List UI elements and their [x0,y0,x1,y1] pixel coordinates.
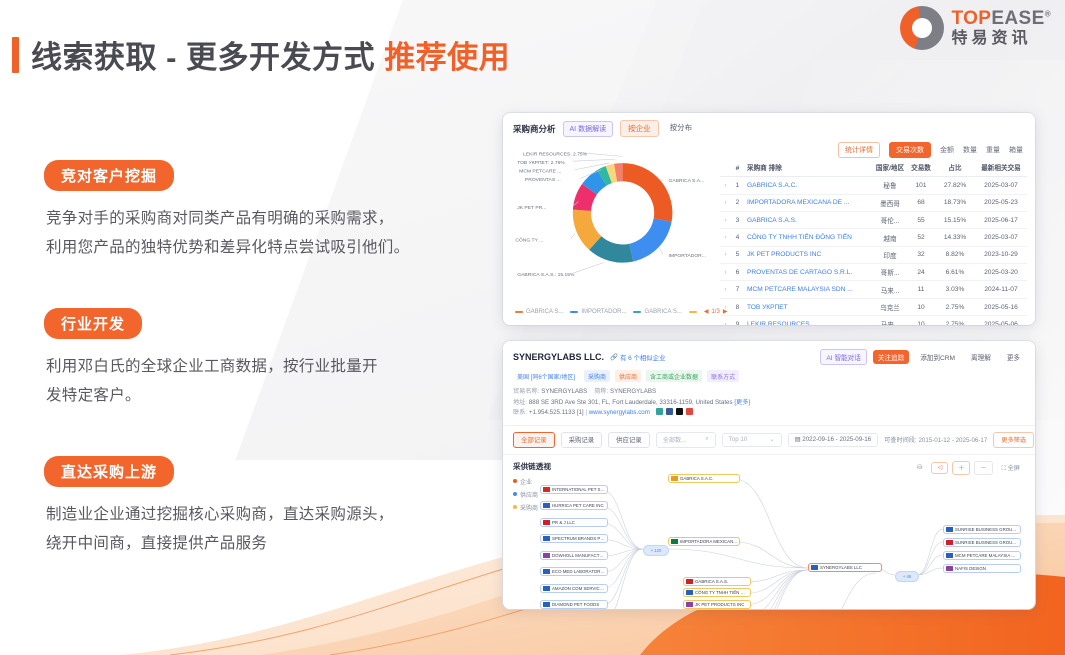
facebook-icon[interactable] [666,408,673,415]
row-last-deal: 2025-06-17 [975,211,1027,228]
feature-text-line2: 发特定客户。 [46,387,141,404]
graph-node-label: GABRICA S.A.C. [680,476,713,481]
graph-node[interactable]: NAFIS DESIGN [943,564,1021,573]
row-index: 4 [731,229,744,246]
row-expand-icon[interactable]: › [720,246,731,263]
legend-item: GABRICA S... [515,309,563,315]
metric-tab-stats[interactable]: 统计详情 [838,142,880,158]
table-row[interactable]: ›6PROVENTAS DE CARTAGO S.R.L.哥斯...246.61… [720,264,1027,281]
donut-label: MCM PETCARE ... [519,169,561,175]
company-header: SYNERGYLABS LLC. 🔗 有 6 个相似企业 AI 智能对话 关注追… [503,341,1035,426]
company-detail-panel: SYNERGYLABS LLC. 🔗 有 6 个相似企业 AI 智能对话 关注追… [503,341,1035,609]
supply-chain-graph: 采供链透视 企业 供应商 采购商 ⛁ ◁ ＋ － ⛶ 全屏 INTERNATIO… [503,455,1035,609]
col-country[interactable]: 国家/地区 [873,162,907,177]
graph-node-label: MCM PETCARE MALAYSIA ... [955,553,1015,558]
table-row[interactable]: ›2IMPORTADORA MEXICANA DE ...墨西哥6818.73%… [720,194,1027,211]
row-country: 越南 [873,229,907,246]
company-alias-row: 贸易名称: SYNERGYLABS 简称: SYNERGYLABS [513,387,1025,398]
legend-item: IMPORTADOR... [570,309,626,315]
row-expand-icon[interactable]: › [720,316,731,325]
row-last-deal: 2025-05-06 [975,316,1027,325]
row-expand-icon[interactable]: › [720,264,731,281]
col-expand [720,162,731,177]
related-companies-label: 有 6 个相似企业 [620,353,665,362]
row-country: 秘鲁 [873,177,907,194]
graph-node-label: AMAZON COM SERVICES L... [552,586,605,591]
tab-by-company[interactable]: 按企业 [620,120,659,137]
view-tab-group: 按企业 按分布 [620,120,699,137]
graph-node[interactable]: DOWHOLL MANUFACTURIN... [540,551,608,560]
graph-node-label: DOWHOLL MANUFACTURIN... [552,553,605,558]
donut-label: GABRICA S.A... [669,178,705,184]
company-info-block: 贸易名称: SYNERGYLABS 简称: SYNERGYLABS 地址: 88… [513,387,1025,419]
row-deal-count: 32 [907,246,935,263]
graph-node-label: SUNRISE BUSINESS GROU... [955,540,1016,545]
table-row[interactable]: ›7MCM PETCARE MALAYSIA SDN ...马来...113.0… [720,281,1027,298]
row-deal-count: 24 [907,264,935,281]
row-deal-count: 10 [907,316,935,325]
logo-chinese-name: 特易资讯 [951,31,1051,47]
donut-label: IMPORTADOR... [669,253,706,259]
logo-registered-icon: ® [1045,10,1051,19]
tag-contact: 联系方式 [707,370,739,382]
filter-tab-supply[interactable]: 供应记录 [608,432,650,448]
graph-node-label: SPECTRUM BRANDS PET L... [552,536,605,541]
donut-svg: LEKIR RESOURCES: 2.75%ТОВ УКРПЕТ: 2.76%M… [511,142,716,300]
related-companies-link[interactable]: 🔗 有 6 个相似企业 [610,353,665,362]
more-button[interactable]: 更多 [1002,350,1025,364]
donut-label: JK PET PR... [517,205,546,211]
graph-node-label: DIAMOND PET FOODS [552,602,599,607]
title-accent-bar [12,37,19,73]
buyer-table-column: 统计详情 交易次数 金额 数量 重量 箱量 # 采购商 排除 国家/地区 交易数… [716,142,1027,325]
chart-legend: GABRICA S... IMPORTADOR... GABRICA S... … [511,305,716,315]
buyer-analysis-panel: 采购商分析 AI 数据解读 按企业 按分布 LEKIR RESOURCES: 2… [503,113,1035,325]
graph-node-label: SUNRISE BUSINESS GROU... [955,527,1016,532]
row-country: 马来... [873,281,907,298]
row-buyer-name[interactable]: JK PET PRODUCTS INC [744,246,873,263]
buyer-donut-chart: LEKIR RESOURCES: 2.75%ТОВ УКРПЕТ: 2.76%M… [511,142,716,325]
ai-interpret-button[interactable]: AI 数据解读 [563,121,614,137]
graph-node-label: INTERNATIONAL PET SUP... [552,487,605,492]
row-share: 6.61% [935,264,975,281]
graph-hub-left[interactable]: + 120 [643,545,669,556]
tag-business-data: 含工商或企业数据 [646,370,702,382]
graph-center-company[interactable]: SYNERGYLABS LLC [808,563,882,572]
row-expand-icon[interactable]: › [720,194,731,211]
wechat-icon[interactable] [656,408,663,415]
company-tag-group: 美国 [同6个国家/地区] 采购商 供应商 含工商或企业数据 联系方式 [513,370,1025,382]
social-icon-group [656,408,693,415]
date-from: 2022-09-16 [802,436,834,443]
row-share: 14.33% [935,229,975,246]
legend-prev-icon[interactable]: ◀ [704,308,709,315]
row-share: 8.82% [935,246,975,263]
legend-item: GABRICA S... [633,309,681,315]
youtube-icon[interactable] [686,408,693,415]
country-flag-icon [686,579,693,584]
company-action-group: AI 智能对话 关注追踪 添加到CRM 离理解 更多 [820,349,1025,365]
row-buyer-name[interactable]: GABRICA S.A.C. [744,177,873,194]
country-flag-icon [543,586,550,591]
row-country: 印度 [873,246,907,263]
col-deal-count[interactable]: 交易数 [907,162,935,177]
feature-block-upstream: 直达采购上游 制造业企业通过挖掘核心采购商，直达采购源头， 绕开中间商，直接提供… [44,456,394,558]
row-buyer-name[interactable]: ТОВ УКРПЕТ [744,298,873,315]
feature-text-line2: 利用您产品的独特优势和差异化特点尝试吸引他们。 [46,239,409,256]
graph-node[interactable]: CÔNG TY TNHH TIẾN ĐÔN... [683,588,751,597]
metric-tab-weight[interactable]: 重量 [986,145,1000,155]
country-flag-icon [543,569,550,574]
address-more-link[interactable]: [更多] [734,399,750,406]
abbr-label: 简称: [594,388,608,395]
legend-pager[interactable]: ◀ 1/3 ▶ [704,308,734,315]
table-row[interactable]: ›1GABRICA S.A.C.秘鲁10127.82%2025-03-07 [720,177,1027,194]
feature-pill-industry: 行业开发 [44,308,142,339]
row-share: 2.75% [935,298,975,315]
company-address-row: 地址: 888 SE 3RD Ave Ste 301, FL, Fort Lau… [513,398,1025,409]
company-name: SYNERGYLABS LLC. [513,352,604,362]
address-value: 888 SE 3RD Ave Ste 301, FL, Fort Lauderd… [529,399,733,406]
graph-hub-right[interactable]: + 46 [895,571,919,582]
country-flag-icon [811,565,818,570]
country-flag-icon [671,539,678,544]
row-index: 1 [731,177,744,194]
row-expand-icon[interactable]: › [720,281,731,298]
abbr-value: SYNERGYLABS [610,388,656,395]
row-index: 9 [731,316,744,325]
legend-item [689,311,697,313]
feature-text-line2: 绕开中间商，直接提供产品服务 [46,535,267,552]
tab-by-distribution[interactable]: 按分布 [663,120,700,137]
metric-tab-cases[interactable]: 箱量 [1009,145,1023,155]
row-deal-count: 101 [907,177,935,194]
row-last-deal: 2025-05-23 [975,194,1027,211]
graph-node[interactable]: IMPORTADORA MEXICAN... [668,537,740,546]
country-flag-icon [543,520,550,525]
page-title: 线索获取 - 更多开发方式 推荐使用 [12,32,510,77]
row-share: 15.15% [935,211,975,228]
row-buyer-name[interactable]: PROVENTAS DE CARTAGO S.R.L. [744,264,873,281]
logo-top-gray: EASE [991,8,1044,29]
graph-node-label: GABRICA S.A.S. [695,579,728,584]
feature-pill-competitor: 竞对客户挖掘 [44,160,174,191]
row-country: 乌克兰 [873,298,907,315]
country-flag-icon [946,527,953,532]
follow-track-button[interactable]: 关注追踪 [873,350,909,364]
feature-block-industry: 行业开发 利用邓白氏的全球企业工商数据，按行业批量开 发特定客户。 [44,308,378,410]
row-deal-count: 55 [907,211,935,228]
metric-tab-group: 统计详情 交易次数 金额 数量 重量 箱量 [720,142,1027,162]
graph-node-label: CÔNG TY TNHH TIẾN ĐÔN... [695,590,748,595]
row-deal-count: 10 [907,298,935,315]
country-flag-icon [946,566,953,571]
table-row[interactable]: ›3GABRICA S.A.S.哥伦...5515.15%2025-06-17 [720,211,1027,228]
record-filter-bar: 全部记录 采购记录 供应记录 全部数...⌕ Top 10⌄ ▤ 2022-09… [503,426,1035,455]
metric-tab-quantity[interactable]: 数量 [963,145,977,155]
tag-country[interactable]: 美国 [同6个国家/地区] [513,370,579,382]
alias-value: SYNERGYLABS [541,388,587,395]
donut-label: ТОВ УКРПЕТ: 2.76% [517,160,565,166]
title-highlight-text: 推荐使用 [384,40,510,75]
metric-tab-deal-count[interactable]: 交易次数 [889,142,931,158]
search-icon: ⌕ [705,435,708,444]
title-main-text: 线索获取 - 更多开发方式 [31,40,375,75]
graph-node-label: HURRICA PET CARE INC [552,503,604,508]
row-share: 2.75% [935,316,975,325]
feature-text-line1: 制造业企业通过挖掘核心采购商，直达采购源头， [46,506,394,523]
row-last-deal: 2023-10-29 [975,246,1027,263]
graph-node[interactable]: JK PET PRODUCTS INC [683,600,751,609]
col-last-deal: 最新相关交易 [975,162,1027,177]
donut-label: PROVENTAS ... [525,177,561,183]
table-row[interactable]: ›8ТОВ УКРПЕТ乌克兰102.75%2025-05-16 [720,298,1027,315]
feature-block-competitor: 竞对客户挖掘 竞争对手的采购商对同类产品有明确的采购需求， 利用您产品的独特优势… [44,160,409,262]
graph-node[interactable]: MCM PETCARE MALAYSIA ... [943,551,1021,560]
table-row[interactable]: ›4CÔNG TY TNHH TIẾN ĐÔNG TIẾN越南5214.33%2… [720,229,1027,246]
company-contact-row: 联系: +1.954.525.1133 [1] | www.synergylab… [513,408,1025,419]
table-row[interactable]: ›5JK PET PRODUCTS INC印度328.82%2023-10-29 [720,246,1027,263]
buyer-table: # 采购商 排除 国家/地区 交易数 占比 最新相关交易 ›1GABRICA S… [720,162,1027,325]
country-flag-icon [686,602,693,607]
legend-label: GABRICA S... [526,309,563,315]
country-flag-icon [946,553,953,558]
metric-tab-amount[interactable]: 金额 [940,145,954,155]
country-flag-icon [543,536,550,541]
graph-node[interactable]: GABRICA S.A.C. [668,474,740,483]
row-share: 27.82% [935,177,975,194]
row-last-deal: 2024-11-07 [975,281,1027,298]
logo-top-orange: TOP [951,8,991,29]
row-index: 6 [731,264,744,281]
graph-node[interactable]: AMAZON COM SERVICES L... [540,584,608,593]
row-buyer-name[interactable]: GABRICA S.A.S. [744,211,873,228]
graph-node-label: ECO MED LABORATORIES ... [552,569,605,574]
topn-select[interactable]: Top 10⌄ [722,433,782,447]
row-share: 3.03% [935,281,975,298]
alias-label: 贸易名称: [513,388,539,395]
row-index: 7 [731,281,744,298]
filter-tab-purchase[interactable]: 采购记录 [561,432,603,448]
row-country: 哥伦... [873,211,907,228]
donut-slice[interactable] [623,163,673,222]
buyer-analysis-header: 采购商分析 AI 数据解读 按企业 按分布 [503,113,1035,142]
country-flag-icon [543,602,550,607]
row-buyer-name[interactable]: IMPORTADORA MEXICANA DE ... [744,194,873,211]
feature-text-line1: 利用邓白氏的全球企业工商数据，按行业批量开 [46,358,378,375]
row-deal-count: 52 [907,229,935,246]
add-to-crm-button[interactable]: 添加到CRM [915,350,960,364]
graph-node[interactable]: SPECTRUM BRANDS PET L... [540,534,608,543]
graph-node-label: JK PET PRODUCTS INC [695,602,744,607]
row-expand-icon[interactable]: › [720,229,731,246]
country-flag-icon [543,503,550,508]
more-filter-button[interactable]: 更多筛选 [993,432,1034,448]
row-last-deal: 2025-03-07 [975,229,1027,246]
row-expand-icon[interactable]: › [720,177,731,194]
row-country: 哥斯... [873,264,907,281]
feature-text-line1: 竞争对手的采购商对同类产品有明确的采购需求， [46,210,394,227]
graph-node-label: NAFIS DESIGN [955,566,986,571]
graph-node[interactable]: DIAMOND PET FOODS [540,600,608,609]
row-deal-count: 68 [907,194,935,211]
link-icon: 🔗 [610,353,618,361]
phone-value: +1.954.525.1133 [1] [529,409,584,416]
graph-node[interactable]: HURRICA PET CARE INC [540,501,608,510]
row-index: 5 [731,246,744,263]
donut-label: LEKIR RESOURCES: 2.75% [523,151,588,157]
legend-label: GABRICA S... [644,309,681,315]
row-last-deal: 2025-03-07 [975,177,1027,194]
website-link[interactable]: www.synergylabs.com [589,409,650,416]
graph-node[interactable]: PR & J LLC [540,518,608,527]
row-deal-count: 11 [907,281,935,298]
country-flag-icon [671,476,678,481]
legend-next-icon[interactable]: ▶ [723,308,728,315]
graph-node-label: IMPORTADORA MEXICAN... [680,539,737,544]
row-buyer-name[interactable]: LEKIR RESOURCES [744,316,873,325]
row-expand-icon[interactable]: › [720,211,731,228]
row-country: 墨西哥 [873,194,907,211]
tiktok-icon[interactable] [676,408,683,415]
buyer-analysis-title: 采购商分析 [513,123,556,135]
graph-node[interactable]: ECO MED LABORATORIES ... [540,567,608,576]
logo-ring-icon [900,6,944,50]
graph-node[interactable]: INTERNATIONAL PET SUP... [540,485,608,494]
row-buyer-name[interactable]: CÔNG TY TNHH TIẾN ĐÔNG TIẾN [744,229,873,246]
legend-label: IMPORTADOR... [581,309,626,315]
date-range-picker[interactable]: ▤ 2022-09-16 - 2025-09-16 [788,433,878,447]
graph-node[interactable]: SUNRISE BUSINESS GROU... [943,538,1021,547]
col-share: 占比 [935,162,975,177]
row-index: 2 [731,194,744,211]
feature-pill-upstream: 直达采购上游 [44,456,174,487]
contact-label: 联系: [513,409,527,416]
available-range-label: 可查时间段: 2015-01-12 - 2025-06-17 [884,435,987,444]
row-index: 3 [731,211,744,228]
dataset-select[interactable]: 全部数...⌕ [656,432,716,448]
row-buyer-name[interactable]: MCM PETCARE MALAYSIA SDN ... [744,281,873,298]
row-share: 18.73% [935,194,975,211]
table-header-row: # 采购商 排除 国家/地区 交易数 占比 最新相关交易 [720,162,1027,177]
graph-node-label: SYNERGYLABS LLC [820,565,862,570]
tag-buyer: 采购商 [584,370,610,382]
country-flag-icon [946,540,953,545]
row-last-deal: 2025-05-16 [975,298,1027,315]
date-to: 2025-09-16 [839,436,871,443]
address-label: 地址: [513,399,527,406]
legend-page-indicator: 1/3 [711,309,719,315]
manage-button[interactable]: 离理解 [966,350,996,364]
col-buyer: 采购商 排除 [744,162,873,177]
donut-label: GABRICA S.A.S.: 15.15% [517,272,575,278]
table-row[interactable]: ›9LEKIR RESOURCES马来...102.75%2025-05-06 [720,316,1027,325]
donut-label: CÔNG TY ... [515,237,543,244]
col-exclude-link[interactable]: 排除 [769,165,782,172]
country-flag-icon [543,487,550,492]
country-flag-icon [686,590,693,595]
chevron-down-icon: ⌄ [770,436,775,443]
country-flag-icon [543,553,550,558]
ai-chat-button[interactable]: AI 智能对话 [820,349,866,365]
filter-tab-all[interactable]: 全部记录 [513,432,555,448]
row-last-deal: 2025-03-20 [975,264,1027,281]
graph-node[interactable]: SUNRISE BUSINESS GROU... [943,525,1021,534]
graph-node[interactable]: GABRICA S.A.S. [683,577,751,586]
col-index: # [731,162,744,177]
donut-slice[interactable] [629,218,671,261]
tag-supplier: 供应商 [615,370,641,382]
row-country: 马来... [873,316,907,325]
graph-node-label: PR & J LLC [552,520,575,525]
calendar-icon: ▤ [795,436,801,443]
brand-logo: TOPEASE® 特易资讯 [900,6,1051,50]
